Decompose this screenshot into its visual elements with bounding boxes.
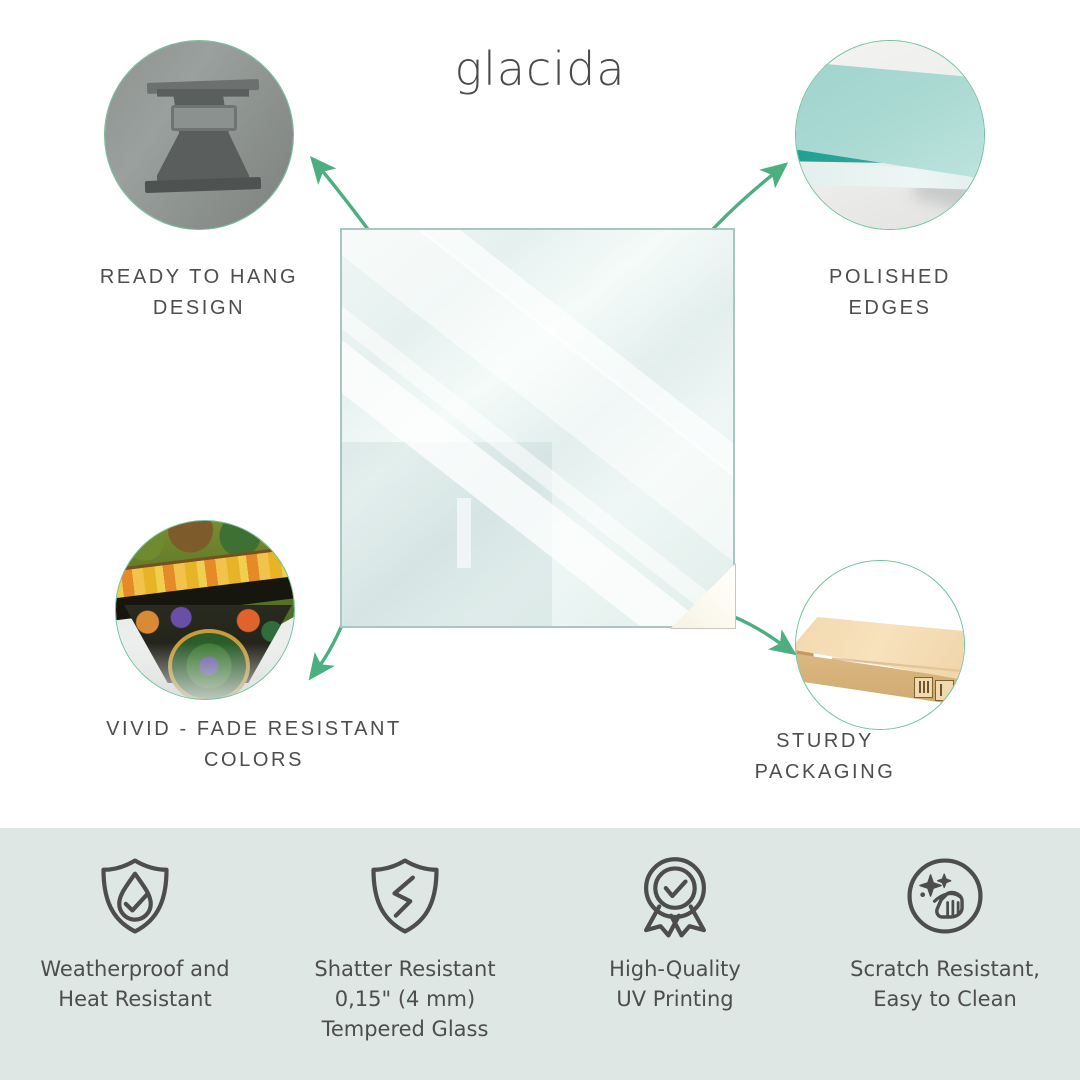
- bracket-body: [157, 89, 249, 185]
- infographic-canvas: glacida READY TO HAN: [0, 0, 1080, 1080]
- photo-bottom-shadow: [116, 643, 294, 699]
- benefit-weatherproof: Weatherproof and Heat Resistant: [0, 828, 270, 1080]
- hanging-bracket-photo: [105, 41, 293, 229]
- benefit-shatter-resistant: Shatter Resistant 0,15" (4 mm) Tempered …: [270, 828, 540, 1080]
- arrow-to-ready-to-hang: [320, 168, 370, 232]
- shield-water-drop-check-icon: [93, 854, 177, 938]
- glass-surface: [340, 228, 735, 628]
- benefit-uv-printing: High-Quality UV Printing: [540, 828, 810, 1080]
- feature-label-ready-to-hang: READY TO HANG DESIGN: [39, 262, 359, 324]
- fragile-icon: [935, 680, 954, 701]
- benefit-text: Weatherproof and Heat Resistant: [40, 954, 229, 1014]
- shield-lightning-crack-icon: [363, 854, 447, 938]
- bracket-slot: [171, 105, 237, 131]
- benefit-text: Shatter Resistant 0,15" (4 mm) Tempered …: [314, 954, 495, 1044]
- cardboard-box-photo: [796, 561, 964, 729]
- this-way-up-icon: [914, 677, 933, 698]
- feature-photo-vivid-colors: [115, 520, 295, 700]
- arrow-to-polished-edges: [712, 172, 776, 230]
- benefits-band: Weatherproof and Heat Resistant Shatter …: [0, 828, 1080, 1080]
- feature-label-polished-edges: POLISHED EDGES: [730, 262, 1050, 324]
- product-glass-panel: [340, 228, 735, 628]
- handle-with-care-icon: [956, 683, 965, 704]
- benefit-text: Scratch Resistant, Easy to Clean: [850, 954, 1040, 1014]
- glass-highlight: [457, 498, 471, 568]
- sparkle-hand-wipe-icon: [903, 854, 987, 938]
- feature-photo-ready-to-hang: [104, 40, 294, 230]
- award-ribbon-check-icon: [633, 854, 717, 938]
- benefit-text: High-Quality UV Printing: [609, 954, 741, 1014]
- stained-glass-art-photo: [116, 521, 294, 699]
- benefit-easy-to-clean: Scratch Resistant, Easy to Clean: [810, 828, 1080, 1080]
- feature-label-vivid-colors: VIVID - FADE RESISTANT COLORS: [48, 714, 460, 776]
- feature-label-sturdy-packaging: STURDY PACKAGING: [660, 726, 990, 788]
- glass-edge-photo: [796, 41, 984, 229]
- feature-photo-sturdy-packaging: [795, 560, 965, 730]
- feature-photo-polished-edges: [795, 40, 985, 230]
